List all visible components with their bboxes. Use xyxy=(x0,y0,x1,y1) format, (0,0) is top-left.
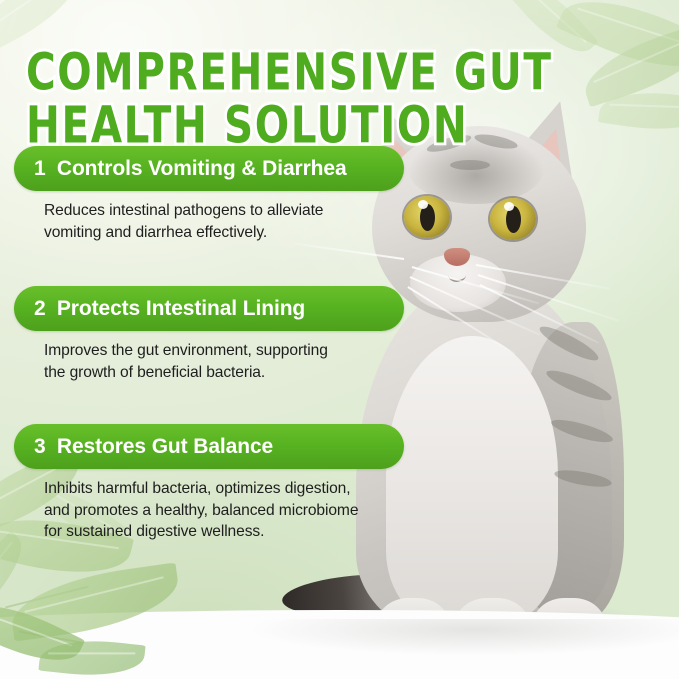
feature-desc-line: Reduces intestinal pathogens to alleviat… xyxy=(44,200,414,222)
feature-desc-line: for sustained digestive wellness. xyxy=(44,521,414,543)
feature-pill-2: 2 Protects Intestinal Lining xyxy=(14,286,404,331)
page-title-line-1: COMPREHENSIVE GUT xyxy=(26,46,626,99)
feature-number-3: 3 xyxy=(34,435,46,459)
feature-description-2: Improves the gut environment, supporting… xyxy=(44,340,414,383)
feature-description-3: Inhibits harmful bacteria, optimizes dig… xyxy=(44,478,414,543)
feature-desc-line: vomiting and diarrhea effectively. xyxy=(44,222,414,244)
cat-stripe xyxy=(450,160,490,170)
feature-item-2: 2 Protects Intestinal Lining Improves th… xyxy=(0,286,430,383)
cat-eye-glint-right xyxy=(504,202,514,211)
feature-title-3: Restores Gut Balance xyxy=(57,435,273,459)
feature-desc-line: and promotes a healthy, balanced microbi… xyxy=(44,500,414,522)
feature-title-1: Controls Vomiting & Diarrhea xyxy=(57,157,347,181)
feature-number-2: 2 xyxy=(34,297,46,321)
product-feature-poster: COMPREHENSIVE GUT HEALTH SOLUTION 1 Cont… xyxy=(0,0,679,679)
feature-number-1: 1 xyxy=(34,157,46,181)
feature-pill-3: 3 Restores Gut Balance xyxy=(14,424,404,469)
feature-title-2: Protects Intestinal Lining xyxy=(57,297,305,321)
page-title-line-2: HEALTH SOLUTION xyxy=(26,99,626,152)
feature-desc-line: Inhibits harmful bacteria, optimizes dig… xyxy=(44,478,414,500)
feature-item-3: 3 Restores Gut Balance Inhibits harmful … xyxy=(0,424,430,543)
feature-desc-line: the growth of beneficial bacteria. xyxy=(44,362,414,384)
feature-item-1: 1 Controls Vomiting & Diarrhea Reduces i… xyxy=(0,146,430,243)
feature-pill-1: 1 Controls Vomiting & Diarrhea xyxy=(14,146,404,191)
feature-description-1: Reduces intestinal pathogens to alleviat… xyxy=(44,200,414,243)
feature-desc-line: Improves the gut environment, supporting xyxy=(44,340,414,362)
page-title: COMPREHENSIVE GUT HEALTH SOLUTION xyxy=(26,46,626,151)
